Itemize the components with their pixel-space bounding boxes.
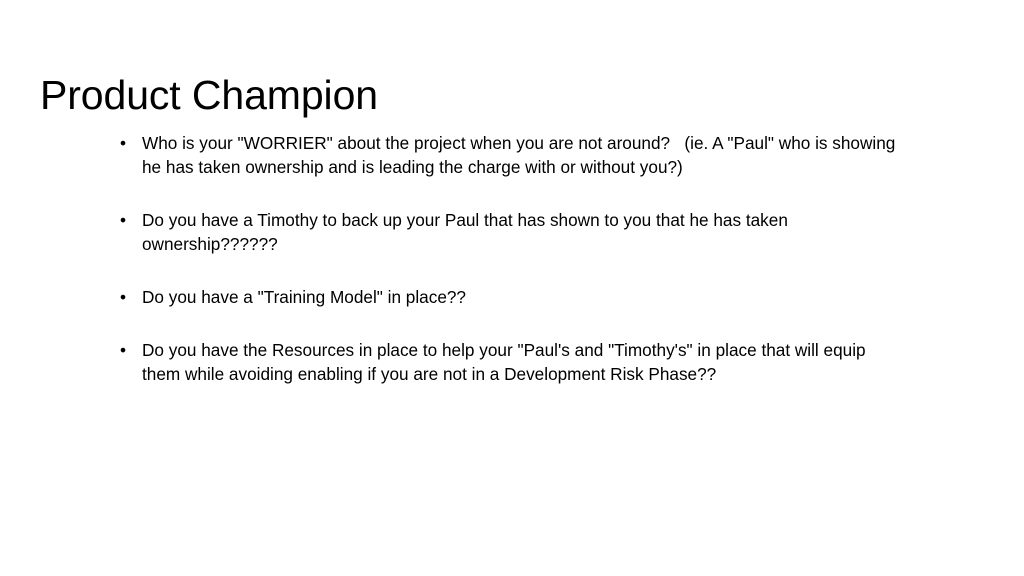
page-title: Product Champion	[40, 71, 970, 120]
bullet-dot-icon: •	[120, 208, 134, 232]
list-item: • Do you have the Resources in place to …	[118, 338, 908, 386]
list-item-text: Do you have the Resources in place to he…	[142, 338, 883, 386]
bullet-dot-icon: •	[120, 338, 134, 362]
bullet-dot-icon: •	[120, 285, 134, 309]
list-item: • Who is your "WORRIER" about the projec…	[118, 131, 908, 179]
list-item-text: Do you have a Timothy to back up your Pa…	[142, 208, 877, 256]
list-item-text: Who is your "WORRIER" about the project …	[142, 131, 904, 179]
list-item-text: Do you have a "Training Model" in place?…	[142, 285, 905, 309]
presentation-slide: Product Champion • Who is your "WORRIER"…	[0, 0, 1024, 576]
list-item: • Do you have a "Training Model" in plac…	[118, 285, 908, 309]
bullet-list: • Who is your "WORRIER" about the projec…	[118, 131, 908, 386]
bullet-dot-icon: •	[120, 131, 134, 155]
list-item: • Do you have a Timothy to back up your …	[118, 208, 908, 256]
